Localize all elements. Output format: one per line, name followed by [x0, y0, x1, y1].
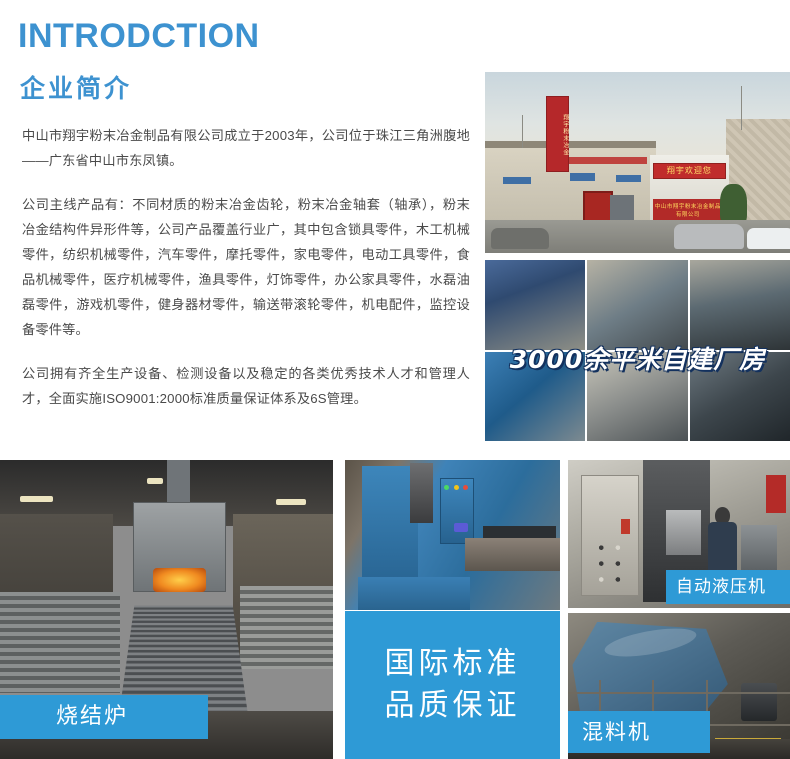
sign-company-board: 中山市翔宇粉末冶金制品有限公司 — [653, 199, 723, 223]
awning-2 — [570, 173, 594, 180]
factory-exterior-scene: 翔宇粉末冶金 翔宇欢迎您 中山市翔宇粉末冶金制品有限公司 — [485, 72, 790, 253]
awning-1 — [503, 177, 530, 184]
ceiling-lamp-2 — [147, 478, 164, 484]
slogan-line-2: 品质保证 — [385, 691, 521, 721]
press-control-panel — [440, 478, 474, 544]
page-title-chinese: 企业简介 — [20, 74, 132, 104]
ceiling-lamp-1 — [20, 496, 53, 502]
indicator-red — [463, 485, 468, 490]
sign-vertical-company-name: 翔宇粉末冶金 — [546, 96, 569, 172]
press-ram — [410, 463, 434, 523]
slogan-line-1: 国际标准 — [385, 649, 521, 679]
indicator-blue — [454, 523, 468, 532]
safety-rail-top — [568, 692, 790, 694]
label-sintering-furnace: 烧结炉 — [0, 695, 208, 739]
label-mixer-machine: 混料机 — [568, 711, 710, 753]
building-left-roof — [485, 141, 656, 148]
building-banner-strip — [567, 157, 646, 164]
press-work-table — [465, 538, 560, 571]
side-control-box — [741, 525, 777, 572]
cabinet-emergency-button — [621, 519, 630, 534]
ceiling-lamp-3 — [276, 499, 306, 505]
utility-pole-1 — [522, 115, 523, 148]
photo-workshop-collage: 3000余平米自建厂房 — [485, 260, 790, 441]
wall-banner-red — [766, 475, 786, 513]
intro-paragraph-1: 中山市翔宇粉末冶金制品有限公司成立于2003年，公司位于珠江三角洲腹地——广东省… — [22, 123, 470, 173]
part-tray-stack-right — [240, 586, 333, 670]
photo-hydraulic-press-mid — [345, 460, 560, 610]
indicator-yellow — [454, 485, 459, 490]
photo-factory-exterior: 翔宇粉末冶金 翔宇欢迎您 中山市翔宇粉末冶金制品有限公司 — [485, 72, 790, 253]
sign-welcome: 翔宇欢迎您 — [653, 163, 726, 179]
press-base — [358, 577, 470, 610]
car-white — [747, 228, 790, 250]
collage-cell-warehouse-racks — [485, 260, 585, 350]
hydraulic-press-mid-scene — [345, 460, 560, 610]
company-intro-text: 中山市翔宇粉末冶金制品有限公司成立于2003年，公司位于珠江三角洲腹地——广东省… — [22, 123, 470, 411]
intro-paragraph-3: 公司拥有齐全生产设备、检测设备以及稳定的各类优秀技术人才和管理人才，全面实施IS… — [22, 361, 470, 411]
intro-paragraph-2: 公司主线产品有：不同材质的粉末冶金齿轮，粉末冶金轴套（轴承），粉末冶金结构件异形… — [22, 192, 470, 342]
mixer-motor — [741, 683, 777, 721]
furnace-flame — [153, 568, 206, 592]
collage-overlay-text: 3000余平米自建厂房 — [485, 340, 790, 376]
slogan-panel: 国际标准 品质保证 — [345, 611, 560, 759]
collage-cell-worker-machine — [690, 260, 790, 350]
cabinet-button-array — [590, 537, 634, 596]
label-hydraulic-press-right: 自动液压机 — [666, 570, 790, 604]
page-title-english: INTRODCTION — [18, 18, 260, 55]
awning-3 — [616, 175, 640, 182]
press-die-assembly — [666, 510, 702, 554]
collage-cell-press-row — [587, 260, 687, 350]
part-tray-stack-left — [0, 592, 120, 694]
company-introduction-page: INTRODCTION 企业简介 中山市翔宇粉末冶金制品有限公司成立于2003年… — [0, 0, 790, 759]
car-silver-suv — [674, 224, 744, 249]
car-dark — [491, 228, 549, 250]
utility-pole-2 — [741, 86, 742, 129]
indicator-green — [444, 485, 449, 490]
